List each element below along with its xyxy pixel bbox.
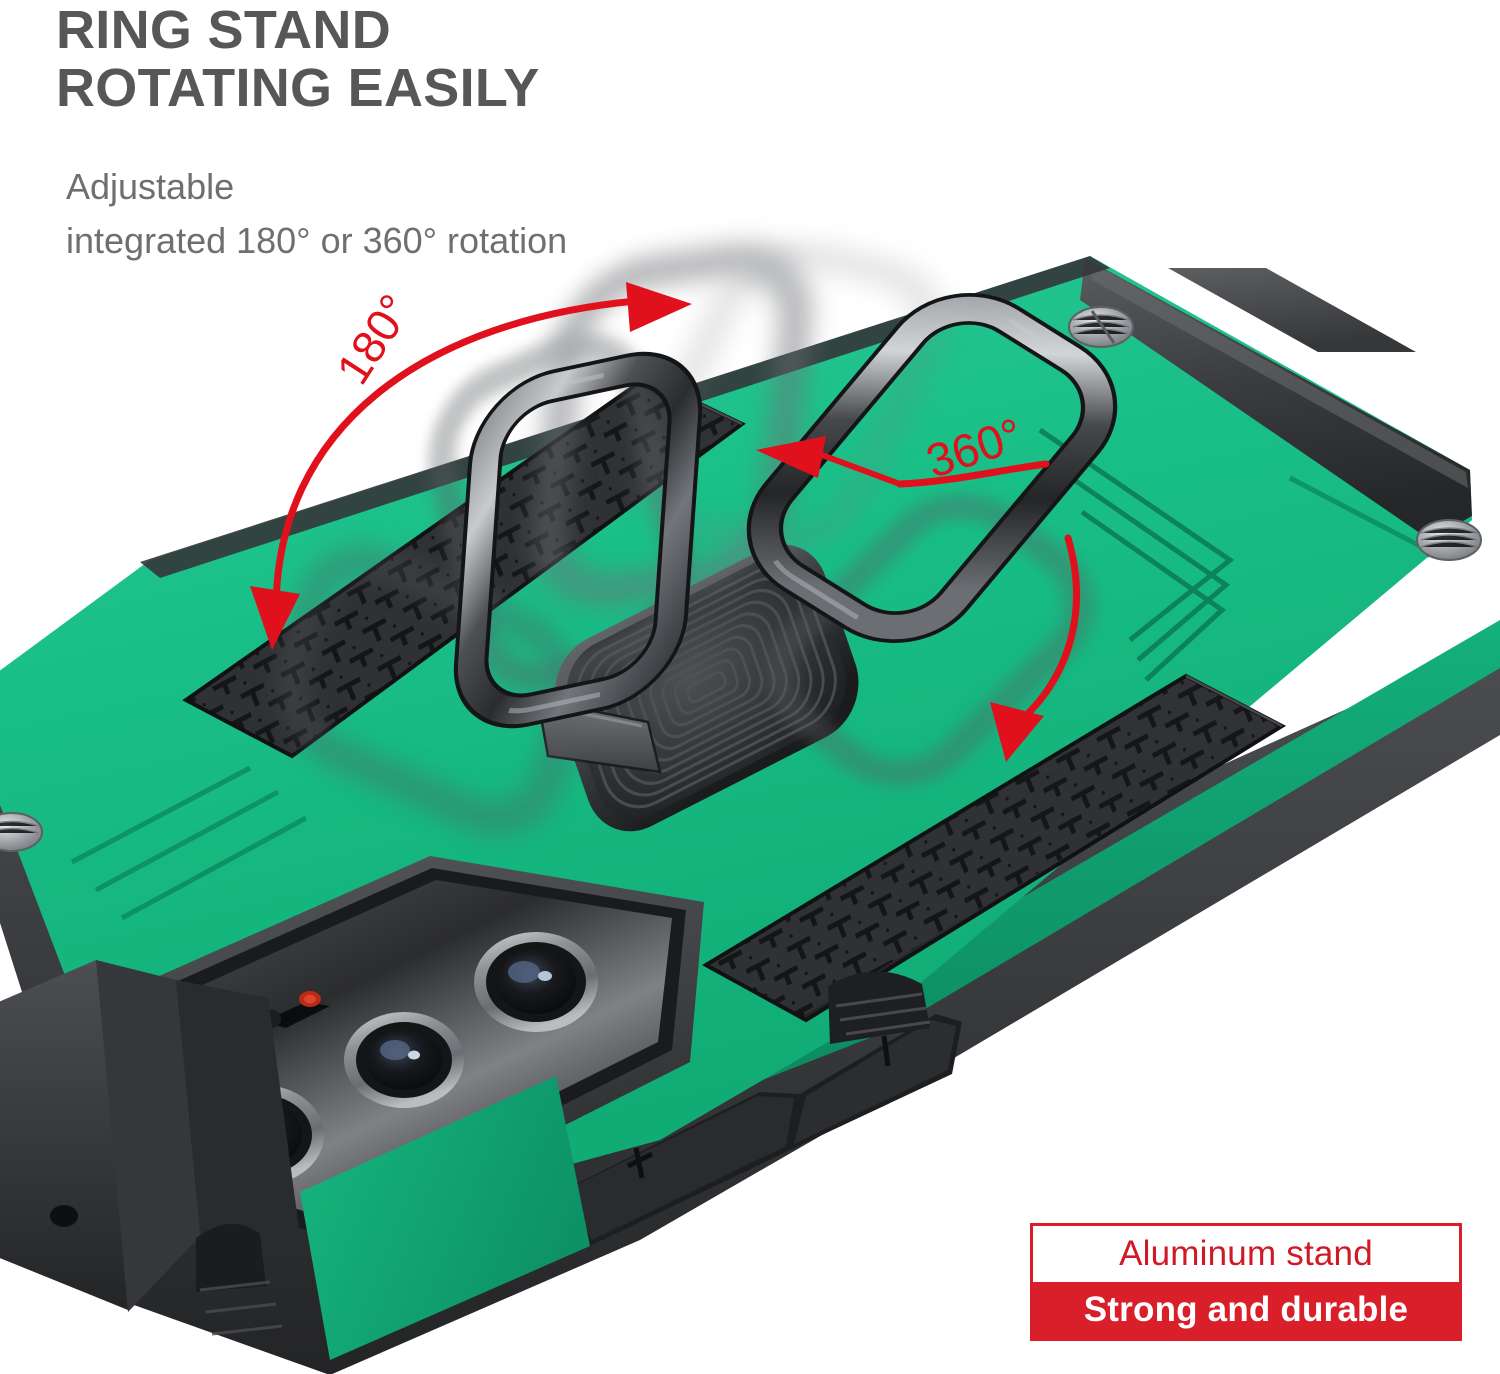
- headphone-port: [50, 1205, 78, 1227]
- product-svg: [0, 0, 1500, 1374]
- phone-case-body: [0, 256, 1500, 1374]
- badge-line-2: Strong and durable: [1033, 1282, 1459, 1338]
- case-bumper-bottomleft: [0, 960, 300, 1334]
- camera-lens-2: [344, 1012, 464, 1108]
- badge-line-1: Aluminum stand: [1033, 1226, 1459, 1282]
- camera-lens-1: [474, 932, 598, 1032]
- feature-badge: Aluminum stand Strong and durable: [1030, 1223, 1462, 1341]
- product-feature-image: RING STAND ROTATING EASILY Adjustable in…: [0, 0, 1500, 1374]
- product-illustration: [0, 0, 1500, 1374]
- arrow-180-head-upper: [626, 282, 692, 332]
